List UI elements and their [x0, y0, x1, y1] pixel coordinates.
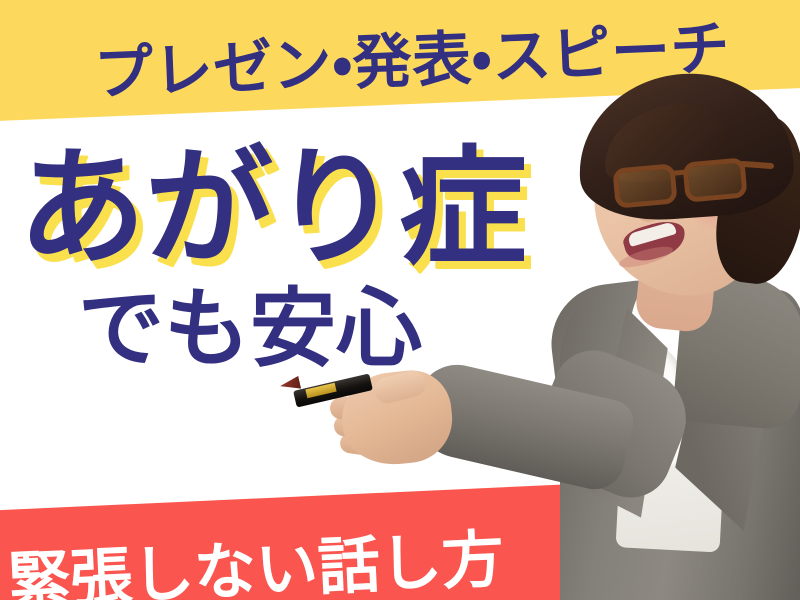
headline-block: あがり症 でも安心	[0, 140, 560, 375]
headline-sub: でも安心	[0, 284, 560, 374]
glasses-lens-left	[612, 163, 677, 208]
promo-banner: プレゼン・発表・スピーチ	[0, 0, 800, 600]
headline-main: あがり症	[0, 140, 560, 278]
glasses-lens-right	[682, 157, 747, 202]
